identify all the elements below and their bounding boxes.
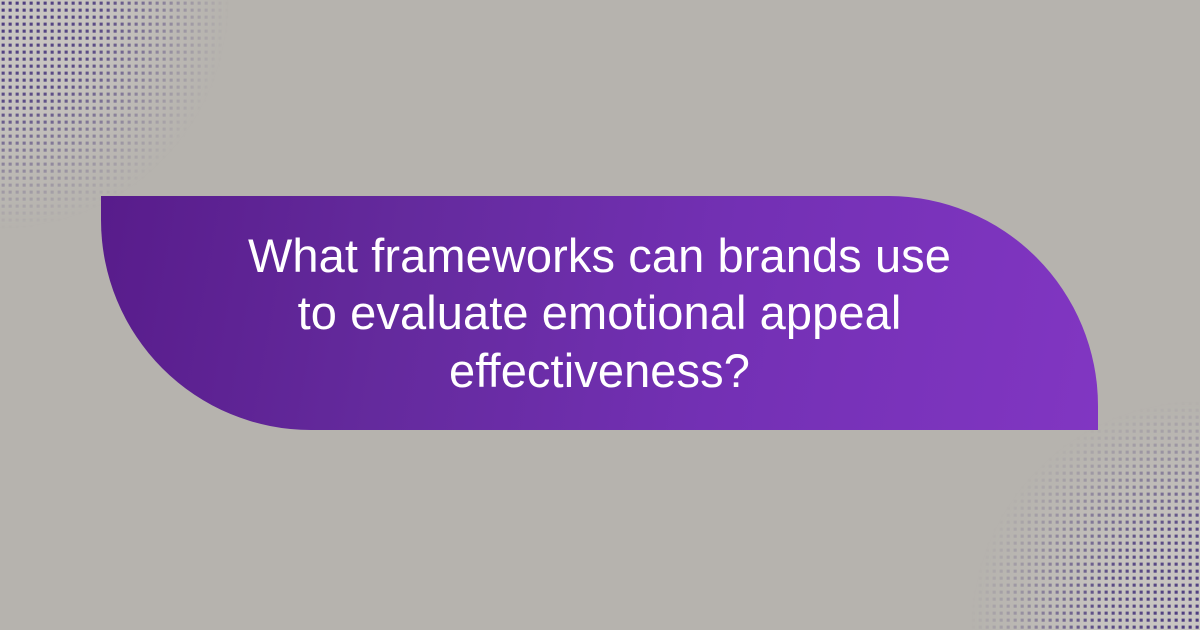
question-banner: What frameworks can brands use to evalua… — [101, 196, 1098, 430]
og-card: What frameworks can brands use to evalua… — [0, 0, 1200, 630]
page-title: What frameworks can brands use to evalua… — [230, 227, 970, 399]
